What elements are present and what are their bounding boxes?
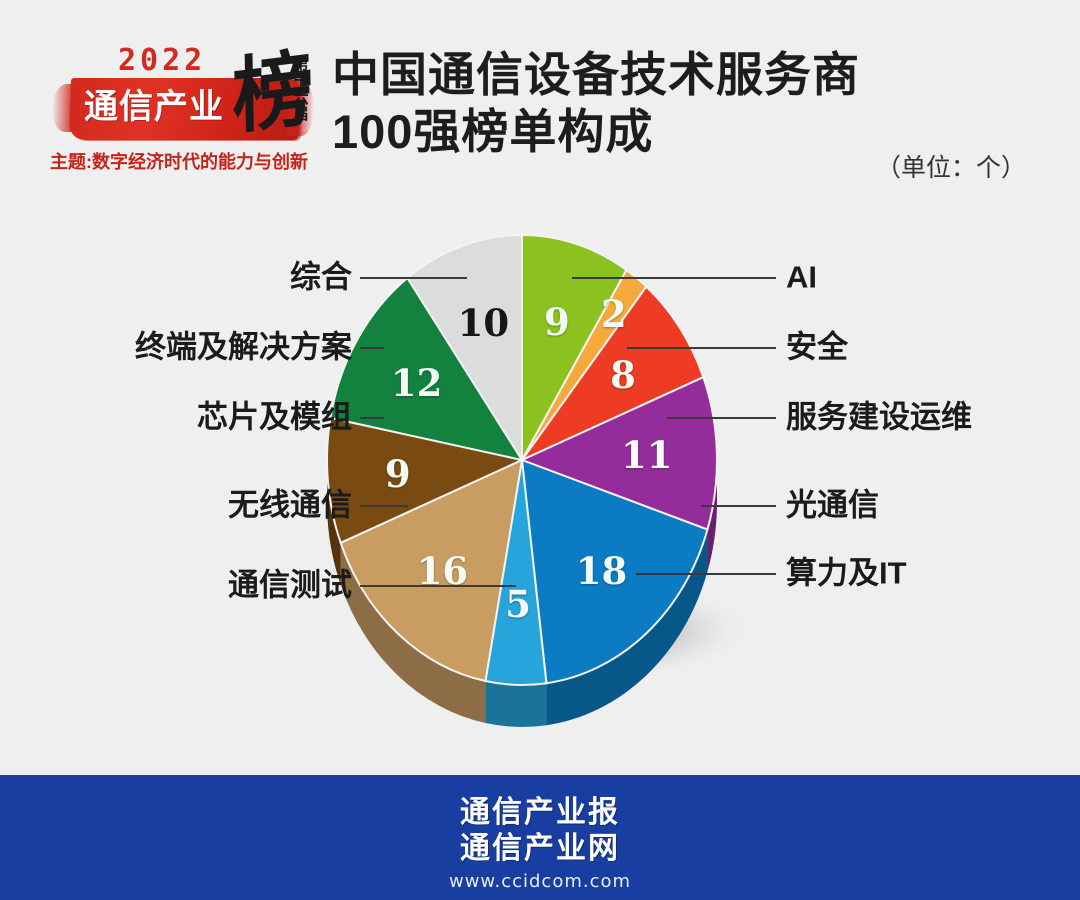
unit-note: （单位：个） xyxy=(876,148,1026,184)
callout-label-算力及IT[interactable]: 算力及IT xyxy=(786,558,907,589)
callout-label-AI[interactable]: AI xyxy=(786,262,817,293)
leader-line-终端及解决方案 xyxy=(360,347,384,349)
pie-chart-svg xyxy=(297,230,747,730)
logo-year: 2022 xyxy=(118,46,206,76)
callout-label-服务建设运维[interactable]: 服务建设运维 xyxy=(786,402,972,433)
pie-chart-area: 928111851691210 综合终端及解决方案芯片及模组无线通信通信测试AI… xyxy=(0,215,1080,775)
logo-subtitle: 主题:数字经济时代的能力与创新 xyxy=(50,148,308,174)
brand-logo: 2022 通信产业 榜 第十六届 主题:数字经济时代的能力与创新 xyxy=(40,40,320,190)
footer: 通信产业报 通信产业网 www.ccidcom.com xyxy=(0,775,1080,900)
callout-label-综合[interactable]: 综合 xyxy=(290,262,352,293)
footer-line-2: 通信产业网 xyxy=(0,831,1080,867)
leader-line-通信测试 xyxy=(360,585,516,587)
logo-brand-text: 通信产业 xyxy=(84,88,224,127)
pie-chart: 928111851691210 xyxy=(297,230,747,730)
callout-label-光通信[interactable]: 光通信 xyxy=(786,490,879,521)
slice-value-服务建设运维: 8 xyxy=(610,353,636,397)
slice-value-光通信: 11 xyxy=(621,433,673,477)
callout-label-芯片及模组[interactable]: 芯片及模组 xyxy=(197,402,352,433)
header: 2022 通信产业 榜 第十六届 主题:数字经济时代的能力与创新 中国通信设备技… xyxy=(0,0,1080,215)
footer-url: www.ccidcom.com xyxy=(0,871,1080,892)
leader-line-算力及IT xyxy=(636,573,776,575)
leader-line-安全 xyxy=(627,347,776,349)
slice-value-通信测试: 5 xyxy=(505,582,531,626)
leader-line-芯片及模组 xyxy=(360,417,384,419)
slice-value-安全: 2 xyxy=(601,292,627,336)
page-title: 中国通信设备技术服务商 100强榜单构成 xyxy=(332,46,972,161)
leader-line-光通信 xyxy=(701,505,776,507)
footer-line-1: 通信产业报 xyxy=(0,795,1080,831)
footer-brand: 通信产业报 通信产业网 www.ccidcom.com xyxy=(0,795,1080,892)
leader-line-无线通信 xyxy=(360,505,408,507)
slice-value-算力及IT: 18 xyxy=(576,549,628,593)
callout-label-无线通信[interactable]: 无线通信 xyxy=(228,490,352,521)
slice-value-终端及解决方案: 12 xyxy=(391,361,443,405)
leader-line-AI xyxy=(572,277,776,279)
callout-label-通信测试[interactable]: 通信测试 xyxy=(228,570,352,601)
pie-slice-side xyxy=(485,681,546,727)
callout-label-安全[interactable]: 安全 xyxy=(786,332,848,363)
slice-value-AI: 9 xyxy=(544,300,570,344)
slice-value-芯片及模组: 9 xyxy=(385,452,411,496)
logo-session-text: 第十六届 xyxy=(292,56,310,123)
title-line-1: 中国通信设备技术服务商 xyxy=(332,46,972,103)
callout-label-终端及解决方案[interactable]: 终端及解决方案 xyxy=(135,332,352,363)
slice-value-综合: 10 xyxy=(458,301,510,345)
leader-line-服务建设运维 xyxy=(667,417,776,419)
leader-line-综合 xyxy=(360,277,467,279)
